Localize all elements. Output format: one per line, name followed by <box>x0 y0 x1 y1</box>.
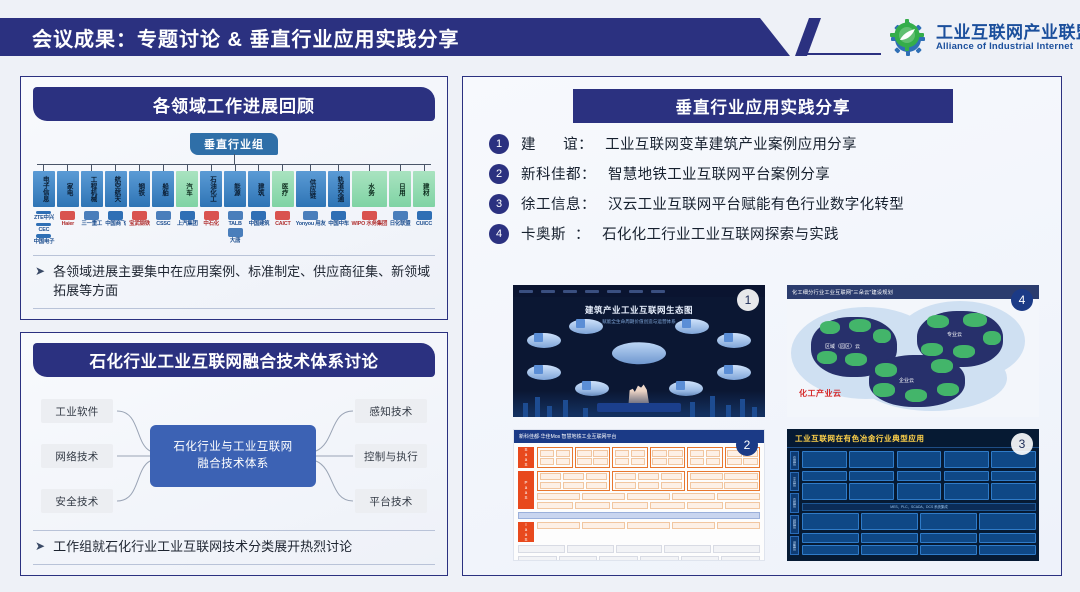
member-logo-mark <box>393 211 408 220</box>
org-cell-label: 日用 <box>389 171 411 207</box>
org-cell-label: 电子信息 <box>33 171 55 207</box>
org-drop-line <box>139 164 140 171</box>
member-logo-mark <box>228 211 243 220</box>
speaker-topic: 工业互联网变革建筑产业案例应用分享 <box>605 133 857 154</box>
member-logo-label: 宝武钢铁 <box>129 221 150 227</box>
thumb2-layer-label: SaaS <box>518 447 534 468</box>
org-cell-list: 电子信息ZTE中兴CEC中国电子家电Haier工程机械三一重工航空航天中国商飞钢… <box>33 164 435 245</box>
member-logo-mark <box>204 211 219 220</box>
member-logo-mark <box>60 211 75 220</box>
thumbnail-grid: 1 建筑产业工业互联网生态图 赋能全生命周期价值创造与运营体系 <box>513 285 1039 561</box>
member-logo-mark <box>251 211 266 220</box>
thumb1-core-platform <box>612 342 666 364</box>
speaker-name: 徐工信息： <box>521 193 596 214</box>
org-cell-member-logos: Yonyou 用友 <box>296 211 326 245</box>
member-logo-label: TALB <box>228 221 241 227</box>
thumb3-spine-label: 边缘层 <box>790 493 799 512</box>
gear-leaf-icon <box>888 18 928 58</box>
org-cell-label: 家电 <box>57 171 79 207</box>
progress-bullet: ➤ 各领域进展主要集中在应用案例、标准制定、供应商征集、新领域拓展等方面 <box>33 255 435 309</box>
org-cell-member-logos: ZTE中兴CEC中国电子 <box>33 211 55 245</box>
member-logo-label: CEC <box>39 227 50 233</box>
member-logo-mark <box>36 234 51 237</box>
bullet-arrow-icon: ➤ <box>33 538 45 555</box>
member-logo-mark <box>180 211 195 220</box>
brand-name-en: Alliance of Industrial Internet <box>936 42 1080 52</box>
panel-progress-review: 各领域工作进展回顾 垂直行业组 电子信息ZTE中兴CEC中国电子家电Haier工… <box>20 76 448 320</box>
thumb3-layer-spine: 应用层 平台层 边缘层 网络层 设备层 <box>790 451 799 555</box>
member-logo-label: 三一重工 <box>81 221 102 227</box>
member-logo-label: ZTE中兴 <box>34 215 54 221</box>
thumb4-label-specialty: 专业云 <box>947 331 962 338</box>
org-drop-line <box>67 164 68 171</box>
org-cell-3[interactable]: 工程机械三一重工 <box>81 164 103 245</box>
org-cell-label: 建材 <box>413 171 435 207</box>
thumb2-title: 新科佳都·华佳Mos 智慧地铁工业互联网平台 <box>519 433 617 440</box>
org-cell-label: 医疗 <box>272 171 294 207</box>
org-cell-1[interactable]: 电子信息ZTE中兴CEC中国电子 <box>33 164 55 245</box>
panel-petrochem-tech-system: 石化行业工业互联网融合技术体系讨论 石化行业与工业互联网 融合技术体系 工业软件… <box>20 332 448 576</box>
thumb4-title: 化工细分行业工业互联网"三朵云"建设规划 <box>792 289 893 296</box>
org-drop-line <box>115 164 116 171</box>
org-cell-5[interactable]: 钢铁宝武钢铁 <box>129 164 151 245</box>
mindmap-node-right-3: 平台技术 <box>355 489 427 513</box>
thumb1-island <box>675 319 709 334</box>
member-logo-mark <box>132 211 147 220</box>
org-cell-member-logos: 中石化 <box>200 211 222 245</box>
org-cell-member-logos: 三一重工 <box>81 211 103 245</box>
thumb1-title: 建筑产业工业互联网生态图 <box>513 304 765 316</box>
member-logo-label: 中国电子 <box>34 239 55 245</box>
member-logo-label: CAICT <box>275 221 290 227</box>
org-cell-member-logos: CSSC <box>152 211 174 245</box>
org-cell-member-logos: CUICC <box>413 211 435 245</box>
thumbnail-application-matrix[interactable]: 3 工业互联网在有色冶金行业典型应用 应用层 平台层 边缘层 网络层 设备层 M… <box>787 429 1039 561</box>
org-cell-member-logos: CAICT <box>272 211 294 245</box>
member-logo-label: 上汽集团 <box>177 221 198 227</box>
speaker-name: 卡奥斯 ： <box>521 223 590 244</box>
mindmap-node-left-1: 工业软件 <box>41 399 113 423</box>
thumb4-label-enterprise: 企业云 <box>899 377 914 384</box>
org-cell-member-logos: 上汽集团 <box>176 211 198 245</box>
org-cell-member-logos: 中国建筑 <box>248 211 270 245</box>
member-logo-mark <box>156 211 171 220</box>
brand-logo: 工业互联网产业联盟 Alliance of Industrial Interne… <box>888 18 1080 58</box>
bullet-arrow-icon: ➤ <box>33 263 45 280</box>
thumb2-layer-iaas: IaaS <box>518 522 760 542</box>
org-cell-member-logos: 中国商飞 <box>105 211 127 245</box>
member-logo-label: CUICC <box>416 221 432 227</box>
thumb4-label-industry-cloud: 化工产业云 <box>799 388 842 399</box>
brand-name-cn: 工业互联网产业联盟 <box>936 24 1080 42</box>
tech-system-mindmap: 石化行业与工业互联网 融合技术体系 工业软件 网络技术 安全技术 感知技术 控制… <box>35 387 433 523</box>
member-logo-mark <box>84 211 99 220</box>
org-drop-line <box>235 164 236 171</box>
mindmap-center-line-2: 融合技术体系 <box>197 456 268 473</box>
thumb2-iaas-band <box>518 512 760 519</box>
thumb1-island <box>717 365 751 380</box>
thumb1-island <box>527 333 561 348</box>
speaker-number-badge: 3 <box>489 194 509 214</box>
speaker-topic: 智慧地铁工业互联网平台案例分享 <box>608 163 830 184</box>
thumb2-footer-row <box>518 545 760 553</box>
org-cell-16[interactable]: 建材CUICC <box>413 164 435 245</box>
thumb4-title-bar: 化工细分行业工业互联网"三朵云"建设规划 <box>787 285 1039 299</box>
progress-bullet-text: 各领域进展主要集中在应用案例、标准制定、供应商征集、新领域拓展等方面 <box>53 263 431 301</box>
member-logo-mark <box>36 223 51 226</box>
org-cell-8[interactable]: 石油化工中石化 <box>200 164 222 245</box>
mindmap-node-right-2: 控制与执行 <box>355 444 427 468</box>
thumb1-island <box>717 333 751 348</box>
right-column: 垂直行业应用实践分享 1建 谊：工业互联网变革建筑产业案例应用分享2新科佳都：智… <box>462 76 1062 576</box>
member-logo-mark <box>303 211 318 220</box>
speaker-topic: 汉云工业互联网平台赋能有色行业数字化转型 <box>608 193 904 214</box>
member-logo-label: 大唐 <box>230 238 240 244</box>
member-logo-label: 中国中车 <box>328 221 349 227</box>
thumb3-body: 应用层 平台层 边缘层 网络层 设备层 MES、PLC、SCADA、DCS 系统… <box>787 448 1039 558</box>
speaker-row-4[interactable]: 4卡奥斯 ：石化化工行业工业互联网探索与实践 <box>489 223 1047 244</box>
member-logo-label: 中国商飞 <box>105 221 126 227</box>
org-cell-label: 水务 <box>352 171 388 207</box>
org-cell-10[interactable]: 建筑中国建筑 <box>248 164 270 245</box>
org-cell-label: 石油化工 <box>200 171 222 207</box>
member-logo-label: Yonyou 用友 <box>296 221 326 227</box>
member-logo-label: CSSC <box>156 221 170 227</box>
thumbnail-badge: 3 <box>1011 433 1033 455</box>
member-logo-label: 中国建筑 <box>249 221 270 227</box>
thumb2-layer-label: IaaS <box>518 522 534 542</box>
org-drop-line <box>258 164 259 171</box>
speaker-row-3[interactable]: 3徐工信息：汉云工业互联网平台赋能有色行业数字化转型 <box>489 193 1047 214</box>
speaker-number-badge: 1 <box>489 134 509 154</box>
panel-progress-review-title: 各领域工作进展回顾 <box>33 87 435 121</box>
org-drop-line <box>43 164 44 171</box>
thumb3-spine-label: 平台层 <box>790 472 799 491</box>
mindmap-node-left-2: 网络技术 <box>41 444 113 468</box>
org-root-node: 垂直行业组 <box>190 133 278 155</box>
panel-vertical-sharing-title: 垂直行业应用实践分享 <box>573 89 953 123</box>
org-cell-4[interactable]: 航空航天中国商飞 <box>105 164 127 245</box>
member-logo-label: WIPO 水务集团 <box>352 221 388 227</box>
speaker-number-badge: 2 <box>489 164 509 184</box>
page-header: 会议成果：专题讨论 & 垂直行业应用实践分享 <box>0 0 1080 70</box>
org-cell-label: 航空航天 <box>105 171 127 207</box>
org-drop-line <box>369 164 370 171</box>
member-logo-label: 中石化 <box>203 221 219 227</box>
thumbnail-ecosystem-map[interactable]: 1 建筑产业工业互联网生态图 赋能全生命周期价值创造与运营体系 <box>513 285 765 417</box>
thumb1-navbar <box>513 285 765 297</box>
org-cell-label: 轨道交通 <box>328 171 350 207</box>
org-cell-6[interactable]: 船舶CSSC <box>152 164 174 245</box>
thumb1-footer-button[interactable] <box>597 403 681 412</box>
member-logo-label: Haier <box>62 221 75 227</box>
mindmap-node-left-3: 安全技术 <box>41 489 113 513</box>
speaker-list: 1建 谊：工业互联网变革建筑产业案例应用分享2新科佳都：智慧地铁工业互联网平台案… <box>489 133 1047 244</box>
thumb2-layer-saas: SaaS <box>518 447 760 468</box>
thumb3-spine-label: 网络层 <box>790 515 799 534</box>
speaker-name: 新科佳都： <box>521 163 596 184</box>
thumb2-layer-label: PaaS <box>518 471 534 510</box>
org-cell-member-logos: WIPO 水务集团 <box>352 211 388 245</box>
thumb1-subtitle: 赋能全生命周期价值创造与运营体系 <box>513 319 765 325</box>
thumb2-footer-row <box>518 556 760 561</box>
org-drop-line <box>338 164 339 171</box>
org-cell-label: 汽车 <box>176 171 198 207</box>
org-cell-12[interactable]: 供应链Yonyou 用友 <box>296 164 326 245</box>
thumb3-spine-label: 应用层 <box>790 451 799 470</box>
thumbnail-platform-architecture[interactable]: 2 新科佳都·华佳Mos 智慧地铁工业互联网平台 SaaS <box>513 429 765 561</box>
org-cell-member-logos: 宝武钢铁 <box>129 211 151 245</box>
org-cell-label: 供应链 <box>296 171 326 207</box>
member-logo-mark <box>36 211 51 214</box>
brand-logo-text: 工业互联网产业联盟 Alliance of Industrial Interne… <box>936 24 1080 52</box>
member-logo-mark <box>362 211 377 220</box>
org-drop-line <box>310 164 311 171</box>
org-cell-9[interactable]: 能源TALB大唐 <box>224 164 246 245</box>
petrochem-bullet-text: 工作组就石化行业工业互联网技术分类展开热烈讨论 <box>53 538 352 557</box>
thumbnail-badge: 2 <box>736 434 758 456</box>
mindmap-center-node: 石化行业与工业互联网 融合技术体系 <box>150 425 316 487</box>
thumb3-title: 工业互联网在有色冶金行业典型应用 <box>787 429 1039 448</box>
thumb1-island <box>527 365 561 380</box>
org-cell-14[interactable]: 水务WIPO 水务集团 <box>352 164 388 245</box>
org-cell-label: 能源 <box>224 171 246 207</box>
member-logo-mark <box>275 211 290 220</box>
speaker-name: 建 谊： <box>521 133 593 154</box>
thumbnail-badge: 4 <box>1011 289 1033 311</box>
speaker-number-badge: 4 <box>489 224 509 244</box>
org-cell-member-logos: 中国中车 <box>328 211 350 245</box>
org-cell-label: 船舶 <box>152 171 174 207</box>
org-cell-member-logos: 日化联盟 <box>389 211 411 245</box>
thumb2-title-bar: 新科佳都·华佳Mos 智慧地铁工业互联网平台 <box>514 430 764 443</box>
org-cell-15[interactable]: 日用日化联盟 <box>389 164 411 245</box>
org-drop-line <box>163 164 164 171</box>
panel-petrochem-title: 石化行业工业互联网融合技术体系讨论 <box>33 343 435 377</box>
header-rule <box>806 53 881 55</box>
org-cell-7[interactable]: 汽车上汽集团 <box>176 164 198 245</box>
petrochem-bullet: ➤ 工作组就石化行业工业互联网技术分类展开热烈讨论 <box>33 530 435 565</box>
org-drop-line <box>211 164 212 171</box>
org-cell-label: 建筑 <box>248 171 270 207</box>
vertical-industry-org-chart: 垂直行业组 电子信息ZTE中兴CEC中国电子家电Haier工程机械三一重工航空航… <box>29 133 439 259</box>
speaker-row-2[interactable]: 2新科佳都：智慧地铁工业互联网平台案例分享 <box>489 163 1047 184</box>
header-accent-slash <box>795 18 821 56</box>
header-title-bar: 会议成果：专题讨论 & 垂直行业应用实践分享 <box>0 18 800 56</box>
thumb2-layer-paas: PaaS <box>518 471 760 510</box>
org-cell-member-logos: Haier <box>57 211 79 245</box>
org-cell-11[interactable]: 医疗CAICT <box>272 164 294 245</box>
mindmap-center-line-1: 石化行业与工业互联网 <box>174 439 293 456</box>
org-cell-label: 钢铁 <box>129 171 151 207</box>
member-logo-label: 日化联盟 <box>390 221 411 227</box>
speaker-topic: 石化化工行业工业互联网探索与实践 <box>602 223 839 244</box>
speaker-row-1[interactable]: 1建 谊：工业互联网变革建筑产业案例应用分享 <box>489 133 1047 154</box>
thumbnail-badge: 1 <box>737 289 759 311</box>
member-logo-mark <box>331 211 346 220</box>
member-logo-mark <box>417 211 432 220</box>
thumb3-matrix: MES、PLC、SCADA、DCS 系统集成 <box>802 451 1036 555</box>
thumb3-spine-label: 设备层 <box>790 536 799 555</box>
mindmap-node-right-1: 感知技术 <box>355 399 427 423</box>
org-cell-2[interactable]: 家电Haier <box>57 164 79 245</box>
org-cell-label: 工程机械 <box>81 171 103 207</box>
thumb2-body: SaaS PaaS <box>514 443 764 561</box>
thumbnail-cloud-diagram[interactable]: 4 化工细分行业工业互联网"三朵云"建设规划 区域 <box>787 285 1039 417</box>
left-column: 各领域工作进展回顾 垂直行业组 电子信息ZTE中兴CEC中国电子家电Haier工… <box>20 76 448 576</box>
thumb4-label-region: 区域（园区）云 <box>825 343 860 350</box>
thumb3-integration-band: MES、PLC、SCADA、DCS 系统集成 <box>802 503 1036 511</box>
org-cell-member-logos: TALB大唐 <box>224 211 246 245</box>
thumb1-island <box>569 319 603 334</box>
page-title: 会议成果：专题讨论 & 垂直行业应用实践分享 <box>0 23 460 52</box>
org-drop-line <box>400 164 401 171</box>
org-drop-line <box>91 164 92 171</box>
org-drop-line <box>282 164 283 171</box>
org-cell-13[interactable]: 轨道交通中国中车 <box>328 164 350 245</box>
member-logo-mark <box>108 211 123 220</box>
org-drop-line <box>424 164 425 171</box>
org-stem <box>234 154 235 164</box>
org-drop-line <box>187 164 188 171</box>
member-logo-mark <box>228 228 243 237</box>
